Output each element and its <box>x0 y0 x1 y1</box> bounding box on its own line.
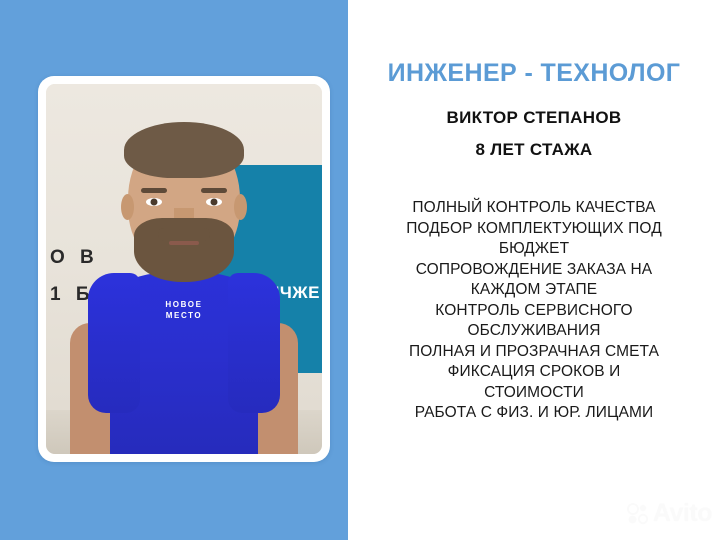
service-line: КОНТРОЛЬ СЕРВИСНОГО <box>360 301 708 322</box>
experience-label: 8 ЛЕТ СТАЖА <box>348 140 720 160</box>
sleeve-right <box>228 273 280 414</box>
photo-frame: ИЧЖЕ О В 1 Б НОВОЕ МЕСТО <box>38 76 330 462</box>
head <box>128 128 240 270</box>
service-line: СОПРОВОЖДЕНИЕ ЗАКАЗА НА <box>360 260 708 281</box>
job-title: ИНЖЕНЕР - ТЕХНОЛОГ <box>348 59 720 88</box>
hair <box>124 122 244 178</box>
sleeve-left <box>88 273 140 414</box>
service-line: ОБСЛУЖИВАНИЯ <box>360 321 708 342</box>
person-figure: НОВОЕ МЕСТО <box>46 84 322 454</box>
services-list: ПОЛНЫЙ КОНТРОЛЬ КАЧЕСТВА ПОДБОР КОМПЛЕКТ… <box>360 198 708 424</box>
mouth <box>169 241 199 245</box>
tshirt-logo-line1: НОВОЕ <box>165 299 202 310</box>
avito-watermark-text: Avito <box>653 499 712 528</box>
ear-left <box>121 194 134 220</box>
portrait-photo: ИЧЖЕ О В 1 Б НОВОЕ МЕСТО <box>46 84 322 454</box>
eye-right <box>206 198 222 206</box>
eye-left <box>146 198 162 206</box>
eyebrow-right <box>201 188 227 193</box>
photo-panel: ИЧЖЕ О В 1 Б НОВОЕ МЕСТО <box>0 0 348 540</box>
service-line: РАБОТА С ФИЗ. И ЮР. ЛИЦАМИ <box>360 403 708 424</box>
eyebrow-left <box>141 188 167 193</box>
service-line: ПОЛНАЯ И ПРОЗРАЧНАЯ СМЕТА <box>360 342 708 363</box>
service-line: ФИКСАЦИЯ СРОКОВ И <box>360 362 708 383</box>
info-panel: ИНЖЕНЕР - ТЕХНОЛОГ ВИКТОР СТЕПАНОВ 8 ЛЕТ… <box>348 0 720 540</box>
tshirt-logo: НОВОЕ МЕСТО <box>165 299 202 321</box>
service-line: КАЖДОМ ЭТАПЕ <box>360 280 708 301</box>
service-line: БЮДЖЕТ <box>360 239 708 260</box>
service-line: ПОДБОР КОМПЛЕКТУЮЩИХ ПОД <box>360 219 708 240</box>
avito-watermark: Avito <box>627 499 712 528</box>
listing-image: ИЧЖЕ О В 1 Б НОВОЕ МЕСТО <box>0 0 720 540</box>
moustache <box>158 228 210 241</box>
person-name: ВИКТОР СТЕПАНОВ <box>348 108 720 128</box>
ear-right <box>234 194 247 220</box>
service-line: СТОИМОСТИ <box>360 383 708 404</box>
avito-logo-icon <box>627 503 649 525</box>
tshirt-logo-line2: МЕСТО <box>165 310 202 321</box>
service-line: ПОЛНЫЙ КОНТРОЛЬ КАЧЕСТВА <box>360 198 708 219</box>
